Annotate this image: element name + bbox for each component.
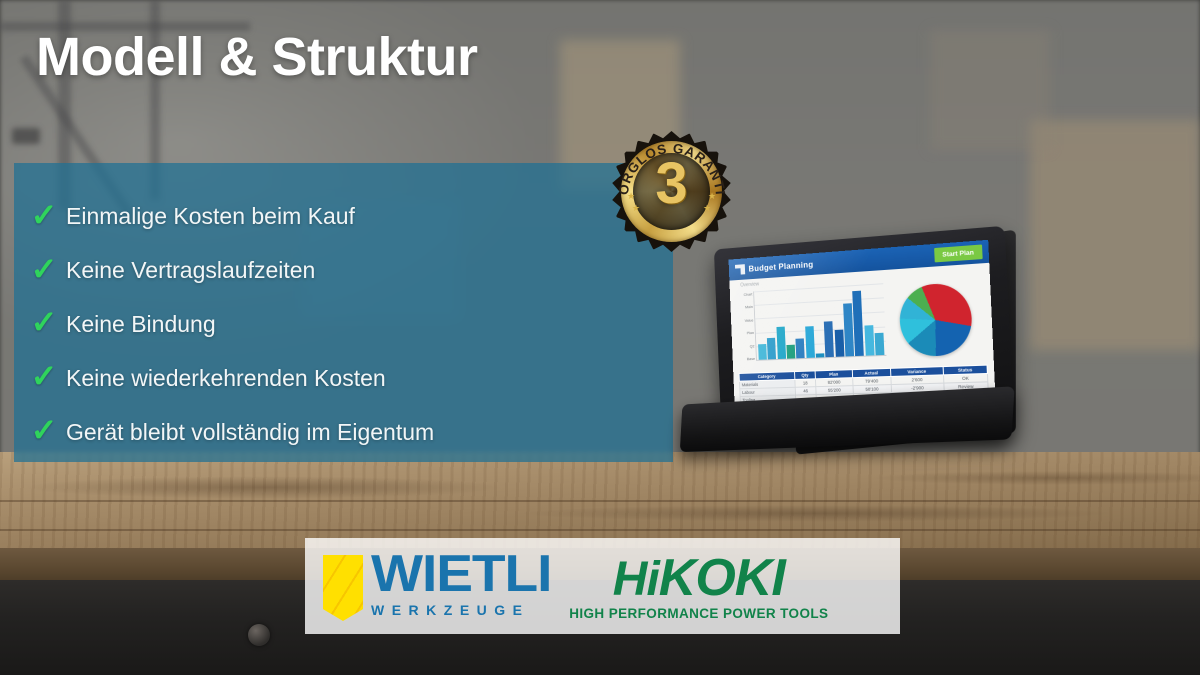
pie-chart (885, 273, 987, 366)
list-item-label: Gerät bleibt vollständig im Eigentum (66, 419, 434, 446)
guarantee-seal-badge: SORGLOS GARANTIE 3 3 JAHRE ★ ★ ★ ★ (611, 131, 732, 252)
tablet-device: Budget Planning Start Plan Overview Char… (666, 236, 1066, 468)
app-logo-icon (735, 264, 745, 275)
workbench-plank-seam (0, 500, 1200, 502)
page-title: Modell & Struktur (36, 26, 478, 88)
check-icon: ✓ (22, 414, 66, 446)
list-item: ✓ Keine wiederkehrenden Kosten (22, 354, 673, 402)
workbench-plank-seam (0, 529, 1200, 531)
slide-canvas: Modell & Struktur ✓ Einmalige Kosten bei… (0, 0, 1200, 675)
list-item: ✓ Keine Bindung (22, 301, 673, 349)
app-title: Budget Planning (748, 259, 813, 273)
y-tick-label: Main (738, 304, 753, 310)
scaffold-foot (12, 128, 40, 144)
list-item-label: Keine Bindung (66, 311, 216, 338)
logo-bar: WIETLI WERKZEUGE HiKOKI HIGH PERFORMANCE… (305, 538, 900, 634)
list-item-label: Keine wiederkehrenden Kosten (66, 365, 386, 392)
check-icon: ✓ (22, 199, 66, 231)
bar (767, 337, 776, 359)
list-item-label: Einmalige Kosten beim Kauf (66, 203, 355, 230)
bar (796, 338, 805, 358)
y-tick-label: Plan (739, 330, 754, 336)
bar (758, 344, 767, 360)
list-item: ✓ Einmalige Kosten beim Kauf (22, 193, 673, 241)
bench-bolt (248, 624, 270, 646)
y-tick-label: Chart (737, 292, 752, 298)
hazard-stripes-icon (323, 555, 363, 621)
list-item-label: Keine Vertragslaufzeiten (66, 257, 315, 284)
star-icon: ★ (703, 203, 711, 214)
y-tick-label: Base (740, 356, 755, 361)
bar (864, 325, 874, 356)
y-tick-label: Value (738, 317, 753, 323)
seal-stars: ★ ★ ★ ★ (611, 131, 732, 252)
pie-chart-disc (898, 282, 973, 357)
bar (776, 326, 786, 359)
bar-chart-y-axis: Chart Main Value Plan Q2 Base (737, 292, 755, 362)
wietli-name: WIETLI (371, 551, 551, 599)
check-icon: ✓ (22, 306, 66, 338)
background-blur-shape (930, 30, 1050, 150)
wietli-logo: WIETLI WERKZEUGE (305, 551, 541, 621)
start-plan-button[interactable]: Start Plan (934, 244, 983, 262)
hikoki-koki: KOKI (659, 549, 785, 607)
bar (853, 291, 864, 356)
benefits-list: ✓ Einmalige Kosten beim Kauf ✓ Keine Ver… (14, 163, 673, 462)
check-icon: ✓ (22, 253, 66, 285)
list-item: ✓ Keine Vertragslaufzeiten (22, 247, 673, 295)
star-icon: ★ (627, 191, 635, 202)
list-item: ✓ Gerät bleibt vollständig im Eigentum (22, 408, 673, 456)
dashboard-charts: Chart Main Value Plan Q2 Base (730, 272, 994, 371)
check-icon: ✓ (22, 360, 66, 392)
bar (805, 326, 815, 358)
hikoki-logo: HiKOKI HIGH PERFORMANCE POWER TOOLS (563, 552, 828, 621)
bar (816, 353, 825, 357)
hikoki-wordmark: HiKOKI (613, 552, 785, 604)
bar-chart: Chart Main Value Plan Q2 Base (735, 279, 889, 371)
bar (786, 345, 795, 359)
star-icon: ★ (632, 203, 640, 214)
wietli-tagline: WERKZEUGE (371, 602, 541, 618)
bar (875, 332, 885, 355)
bar (843, 303, 854, 356)
bar-series (756, 283, 885, 359)
hikoki-hi: Hi (613, 553, 659, 606)
y-tick-label: Q2 (739, 343, 754, 348)
bar (824, 321, 834, 357)
bar-chart-plot-area (753, 283, 886, 361)
hikoki-tagline: HIGH PERFORMANCE POWER TOOLS (569, 606, 828, 621)
wietli-wordmark: WIETLI WERKZEUGE (371, 551, 541, 618)
bar (834, 329, 844, 357)
star-icon: ★ (708, 191, 716, 202)
